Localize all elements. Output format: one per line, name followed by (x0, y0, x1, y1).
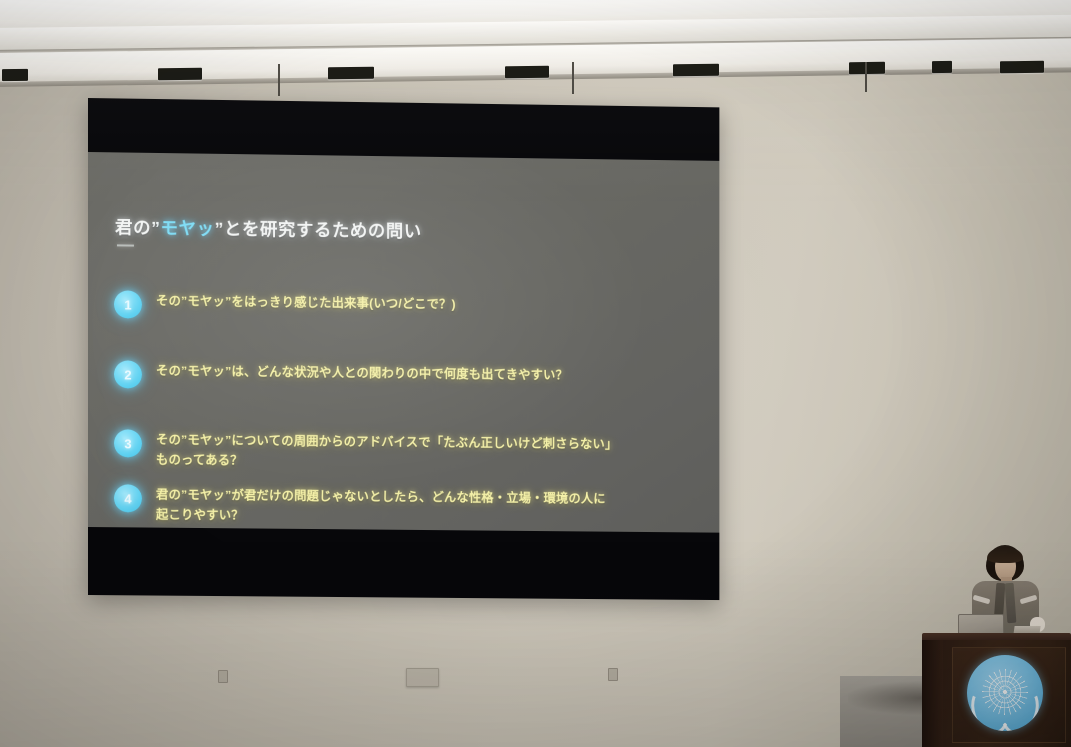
ceiling-vent (328, 67, 374, 80)
ceiling-vent (505, 66, 549, 79)
ceiling-vent (158, 68, 202, 81)
presentation-slide: 君の”モヤッ”とを研究するための問い 1 その”モヤッ”をはっきり感じた出来事(… (88, 152, 719, 533)
slide-title: 君の”モヤッ”とを研究するための問い (115, 214, 422, 243)
podium-side-panel (922, 640, 944, 747)
bullet-number-badge: 4 (114, 484, 142, 512)
slide-bullet-2: 2 その”モヤッ”は、どんな状況や人との関わりの中で何度も出てきやすい？ (114, 360, 568, 393)
bullet-text: 君の”モヤッ”が君だけの問題じゃないとしたら、どんな性格・立場・環境の人に 起こ… (156, 485, 606, 529)
slide-title-underline (117, 244, 134, 246)
bullet-line: 起こりやすい？ (156, 505, 606, 529)
podium (922, 633, 1071, 747)
ceiling-vent (673, 64, 719, 77)
ceiling-hanger-rod (572, 62, 574, 94)
bullet-number-badge: 3 (114, 429, 142, 457)
slide-title-prefix: 君の” (115, 217, 160, 238)
bullet-text: その”モヤッ”についての周囲からのアドバイスで「たぶん正しいけど刺さらない」 も… (156, 430, 617, 475)
ceiling-hanger-rod (278, 64, 280, 96)
ceiling-vent (932, 61, 952, 73)
wall-outlet (218, 670, 228, 683)
bullet-number-badge: 1 (114, 290, 142, 318)
bullet-number-badge: 2 (114, 360, 142, 388)
ceiling-vent (2, 69, 28, 81)
projection-screen: 君の”モヤッ”とを研究するための問い 1 その”モヤッ”をはっきり感じた出来事(… (88, 98, 719, 600)
wall-panel (406, 668, 439, 687)
bullet-line: その”モヤッ”は、どんな状況や人との関わりの中で何度も出てきやすい？ (156, 361, 568, 386)
slide-content: 君の”モヤッ”とを研究するための問い 1 その”モヤッ”をはっきり感じた出来事(… (88, 152, 719, 533)
slide-bullet-3: 3 その”モヤッ”についての周囲からのアドバイスで「たぶん正しいけど刺さらない」… (114, 429, 617, 474)
wall-outlet (608, 668, 618, 681)
united-nations-emblem-icon (967, 655, 1043, 731)
slide-bullet-4: 4 君の”モヤッ”が君だけの問題じゃないとしたら、どんな性格・立場・環境の人に … (114, 484, 606, 529)
bullet-text: その”モヤッ”をはっきり感じた出来事(いつ/どこで？) (156, 291, 456, 315)
slide-bullet-1: 1 その”モヤッ”をはっきり感じた出来事(いつ/どこで？) (114, 290, 456, 322)
speaker-hair-fringe (987, 547, 1023, 563)
ceiling-vent (1000, 61, 1044, 74)
auditorium-photo: 君の”モヤッ”とを研究するための問い 1 その”モヤッ”をはっきり感じた出来事(… (0, 0, 1071, 747)
bullet-text: その”モヤッ”は、どんな状況や人との関わりの中で何度も出てきやすい？ (156, 361, 568, 386)
slide-title-suffix: ”とを研究するための問い (215, 219, 422, 242)
slide-title-highlight: モヤッ (160, 218, 214, 239)
ceiling-vent (849, 62, 885, 75)
bullet-line: その”モヤッ”をはっきり感じた出来事(いつ/どこで？) (156, 291, 456, 315)
ceiling-hanger-rod (865, 62, 867, 92)
